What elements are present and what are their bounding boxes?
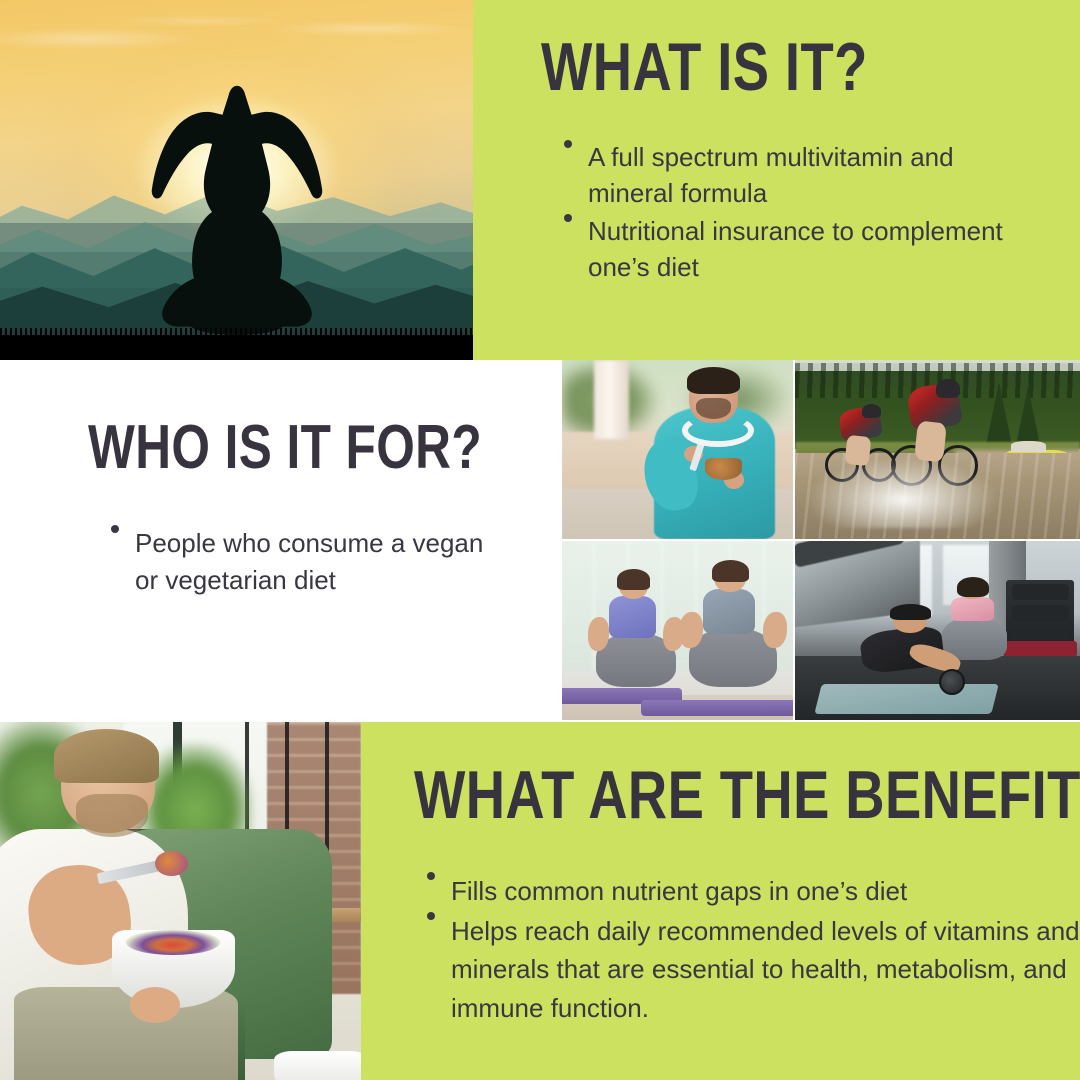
what-is-it-panel: WHAT IS IT? A full spectrum multivitamin… — [473, 0, 1080, 360]
list-item: People who consume a vegan or vegetarian… — [105, 525, 485, 599]
infographic-canvas: WHAT IS IT? A full spectrum multivitamin… — [0, 0, 1080, 1080]
gym-ab-roller-workout-photo — [795, 541, 1080, 720]
benefits-panel: WHAT ARE THE BENEFITS? Fills common nutr… — [361, 722, 1080, 1080]
lifestyle-photo-collage — [562, 360, 1080, 720]
what-is-it-bullet-list: A full spectrum multivitamin and mineral… — [558, 140, 1028, 288]
mountain-bikers-water-splash-photo — [795, 360, 1080, 539]
meditating-person-silhouette — [122, 67, 350, 337]
yoga-sunrise-mountains-photo — [0, 0, 473, 360]
who-is-it-for-panel: WHO IS IT FOR? People who consume a vega… — [0, 360, 562, 722]
grass-foreground — [0, 335, 473, 360]
list-item: Nutritional insurance to complement one’… — [558, 214, 1028, 286]
benefits-heading: WHAT ARE THE BENEFITS? — [414, 762, 1080, 829]
man-eating-salad-bowl-indoors-photo — [0, 722, 361, 1080]
list-item: Fills common nutrient gaps in one’s diet — [421, 872, 1080, 910]
who-is-it-for-heading: WHO IS IT FOR? — [88, 418, 482, 479]
benefits-bullet-list: Fills common nutrient gaps in one’s diet… — [421, 872, 1080, 1029]
who-is-it-for-bullet-list: People who consume a vegan or vegetarian… — [105, 525, 485, 601]
list-item: A full spectrum multivitamin and mineral… — [558, 140, 1028, 212]
man-eating-salad-outdoors-photo — [562, 360, 793, 539]
couple-meditating-yoga-photo — [562, 541, 793, 720]
list-item: Helps reach daily recommended levels of … — [421, 912, 1080, 1027]
what-is-it-heading: WHAT IS IT? — [541, 34, 868, 101]
